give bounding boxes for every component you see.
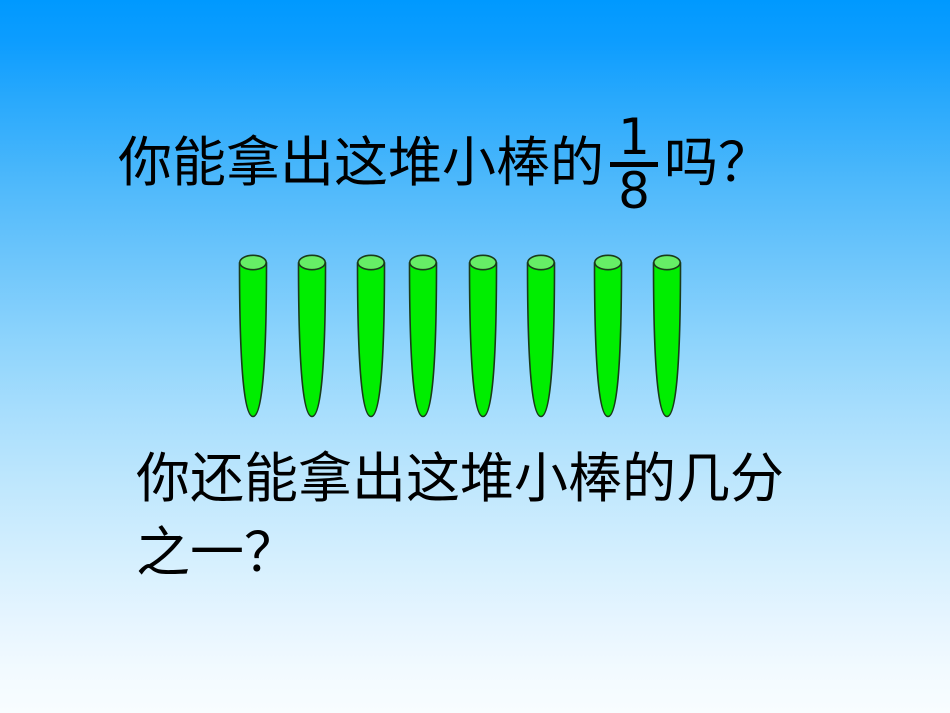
question-1-text-before-fraction: 你能拿出这堆小棒的 xyxy=(118,135,604,192)
question-2-line-2: 之一？ xyxy=(136,516,860,590)
fraction-numerator: 1 xyxy=(618,114,650,160)
stick-4 xyxy=(408,252,438,418)
question-1-text-after-fraction: 吗？ xyxy=(664,135,772,192)
stick-3 xyxy=(356,252,386,418)
stick-7 xyxy=(593,252,623,418)
slide-canvas: 你能拿出这堆小棒的 1 8 吗？ xyxy=(0,0,950,713)
stick-6 xyxy=(526,252,556,418)
fraction-denominator: 8 xyxy=(618,168,650,214)
sticks-group xyxy=(238,252,682,420)
question-line-1: 你能拿出这堆小棒的 1 8 吗？ xyxy=(118,108,878,218)
stick-1 xyxy=(238,252,268,418)
fraction-one-eighth: 1 8 xyxy=(610,114,658,214)
stick-8 xyxy=(652,252,682,418)
question-paragraph-2: 你还能拿出这堆小棒的几分 之一？ xyxy=(136,442,860,590)
stick-2 xyxy=(297,252,327,418)
stick-5 xyxy=(468,252,498,418)
question-2-line-1: 你还能拿出这堆小棒的几分 xyxy=(136,442,860,516)
